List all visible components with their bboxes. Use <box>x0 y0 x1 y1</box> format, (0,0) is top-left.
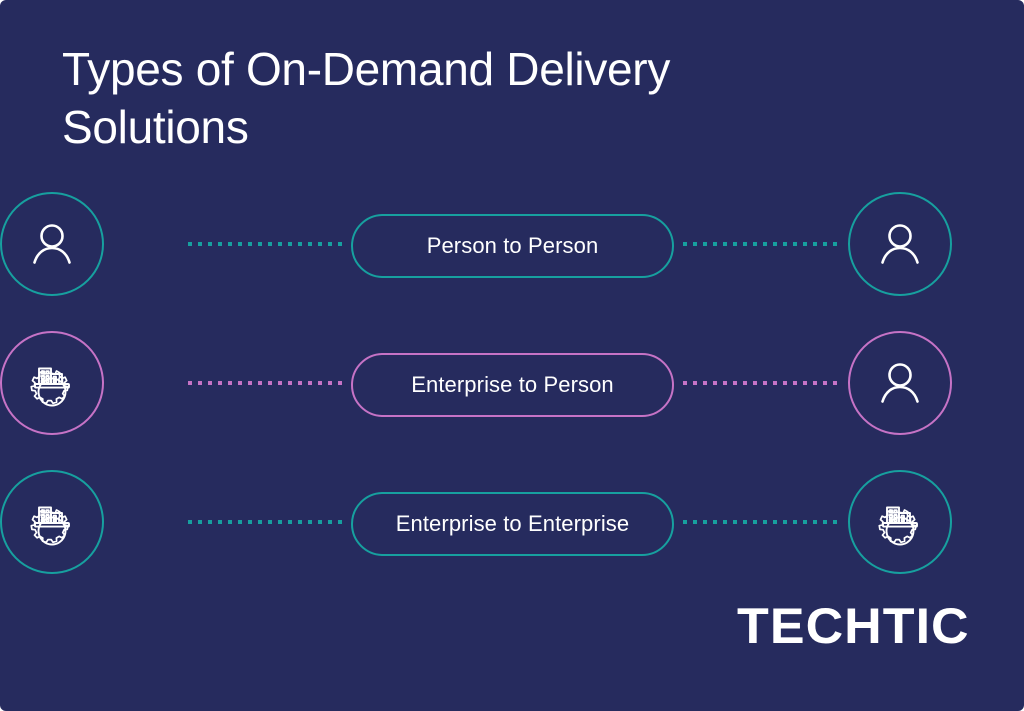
dotted-line <box>188 242 342 246</box>
diagram-row-person-to-person: Person to Person <box>0 190 1024 302</box>
row-2-connector-left <box>188 381 342 385</box>
person-icon <box>25 217 79 271</box>
page-title: Types of On-Demand Delivery Solutions <box>62 40 782 156</box>
row-2-pill[interactable]: Enterprise to Person <box>351 353 674 417</box>
dotted-line <box>188 520 342 524</box>
dotted-line <box>683 381 839 385</box>
row-1-pill[interactable]: Person to Person <box>351 214 674 278</box>
row-3-right-node[interactable] <box>848 470 952 574</box>
dotted-line <box>188 381 342 385</box>
person-icon <box>873 217 927 271</box>
row-2-right-node[interactable] <box>848 331 952 435</box>
person-icon <box>873 356 927 410</box>
row-3-connector-right <box>683 520 839 524</box>
row-3-pill[interactable]: Enterprise to Enterprise <box>351 492 674 556</box>
row-2-connector-right <box>683 381 839 385</box>
enterprise-icon <box>25 356 79 410</box>
dotted-line <box>683 242 839 246</box>
row-3-left-node[interactable] <box>0 470 104 574</box>
enterprise-icon <box>873 495 927 549</box>
row-1-right-node[interactable] <box>848 192 952 296</box>
row-3-pill-label: Enterprise to Enterprise <box>396 511 630 537</box>
infographic-canvas: Types of On-Demand Delivery Solutions Pe… <box>0 0 1024 711</box>
row-1-pill-label: Person to Person <box>427 233 599 259</box>
row-3-connector-left <box>188 520 342 524</box>
row-1-left-node[interactable] <box>0 192 104 296</box>
diagram-row-enterprise-to-enterprise: Enterprise to Enterprise <box>0 468 1024 580</box>
row-1-connector-left <box>188 242 342 246</box>
row-2-left-node[interactable] <box>0 331 104 435</box>
techtic-logo: TECHTIC <box>737 597 970 655</box>
row-2-pill-label: Enterprise to Person <box>411 372 614 398</box>
row-1-connector-right <box>683 242 839 246</box>
dotted-line <box>683 520 839 524</box>
enterprise-icon <box>25 495 79 549</box>
diagram-row-enterprise-to-person: Enterprise to Person <box>0 329 1024 441</box>
